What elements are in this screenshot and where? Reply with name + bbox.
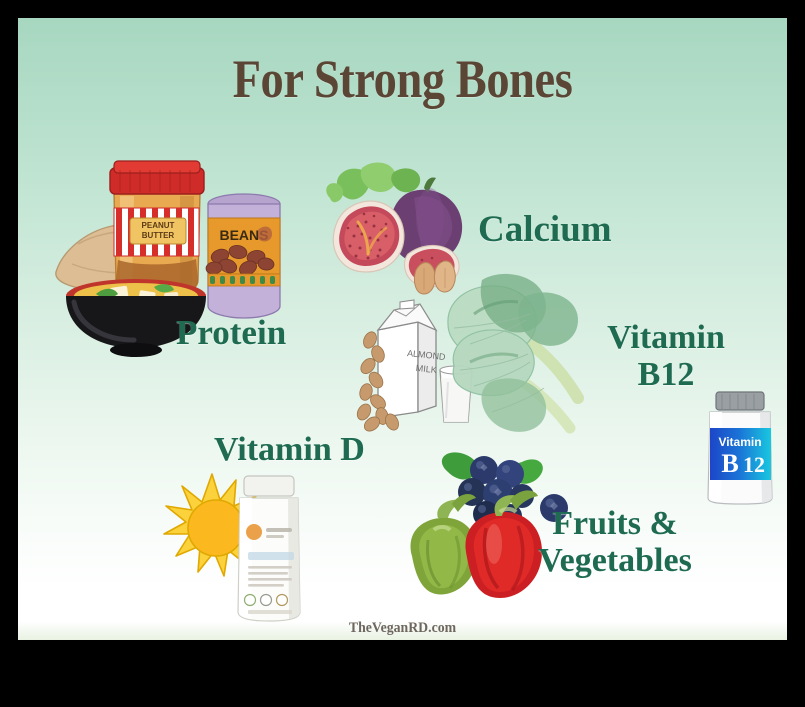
peanut-butter-label-line2: BUTTER xyxy=(142,231,175,240)
nutrient-label-vitamin-d: Vitamin D xyxy=(214,432,365,469)
vitamin-d-illustration xyxy=(156,466,341,624)
leafy-greens-illustration xyxy=(430,266,600,441)
nutrient-label-calcium: Calcium xyxy=(478,210,612,250)
nutrient-label-fruits-vegetables: Fruits & Vegetables xyxy=(520,506,710,579)
b12-bottle-label-line3: 12 xyxy=(743,452,765,477)
peanut-butter-jar-icon: PEANUT BUTTER xyxy=(110,161,204,294)
beans-can-icon: BEANS xyxy=(205,194,280,318)
vitamin-b12-bottle-illustration: Vitamin B 12 xyxy=(692,390,787,506)
vitamin-b12-bottle-icon: Vitamin B 12 xyxy=(708,392,772,504)
nutrient-label-vitamin-b12: Vitamin B12 xyxy=(590,320,742,393)
vitamin-d-supplement-bottle-icon xyxy=(238,476,300,621)
nutrient-label-protein: Protein xyxy=(176,314,286,352)
b12-bottle-label-line2: B xyxy=(721,449,738,478)
b12-bottle-label-line1: Vitamin xyxy=(718,435,761,449)
peanut-butter-label-line1: PEANUT xyxy=(142,221,175,230)
leafy-greens-icon xyxy=(448,274,578,432)
site-credit: TheVeganRD.com xyxy=(49,620,756,637)
infographic-canvas: For Strong Bones xyxy=(18,18,787,640)
poster-frame: For Strong Bones xyxy=(0,0,805,707)
page-title: For Strong Bones xyxy=(72,48,733,110)
cut-fig-icon xyxy=(333,201,404,272)
